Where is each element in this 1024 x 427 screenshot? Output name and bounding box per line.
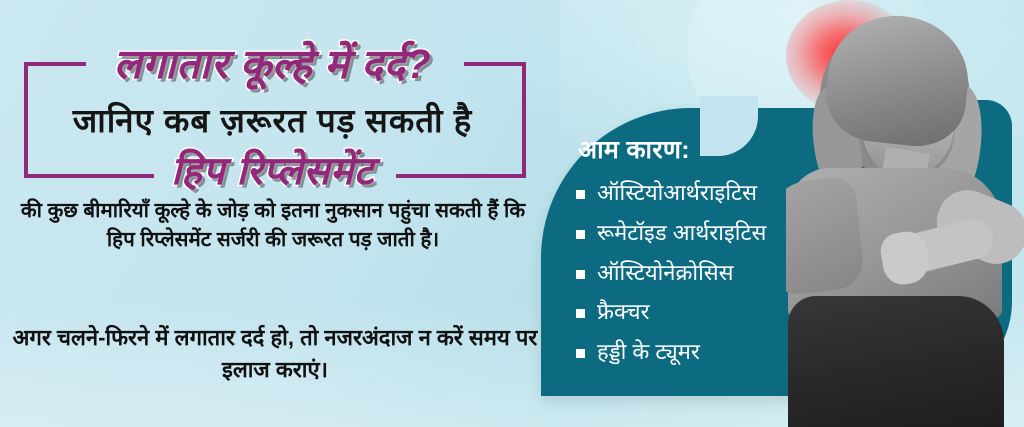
square-bullet-icon [576,270,585,279]
square-bullet-icon [576,349,585,358]
cause-label: फ्रैक्चर [597,299,650,326]
trousers [788,296,1004,427]
headline-line-2: जानिए कब ज़रूरत पड़ सकती है [0,104,545,137]
headline-line-1: लगातार कूल्हे में दर्द? [0,44,545,85]
square-bullet-icon [576,190,585,199]
body-paragraph-1: की कुछ बीमारियाँ कूल्हे के जोड़ को इतना … [8,196,538,254]
cause-label: ऑस्टियोआर्थराइटिस [597,180,757,207]
cause-label: ऑस्टियोनेक्रोसिस [597,260,734,287]
hip-replacement-banner: लगातार कूल्हे में दर्द? जानिए कब ज़रूरत … [0,0,1024,427]
woman-in-pain-photo [786,0,1024,427]
body-paragraph-2: अगर चलने-फिरने में लगातार दर्द हो, तो नज… [8,322,542,386]
left-content-column: लगातार कूल्हे में दर्द? जानिए कब ज़रूरत … [0,0,545,427]
cause-label: रूमेटॉइड आर्थराइटिस [597,220,766,247]
square-bullet-icon [576,309,585,318]
cause-label: हड्डी के ट्यूमर [597,339,700,366]
tshirt-sleeve [786,175,866,296]
headline-line-3: हिप रिप्लेसमेंट [0,152,545,191]
square-bullet-icon [576,230,585,239]
